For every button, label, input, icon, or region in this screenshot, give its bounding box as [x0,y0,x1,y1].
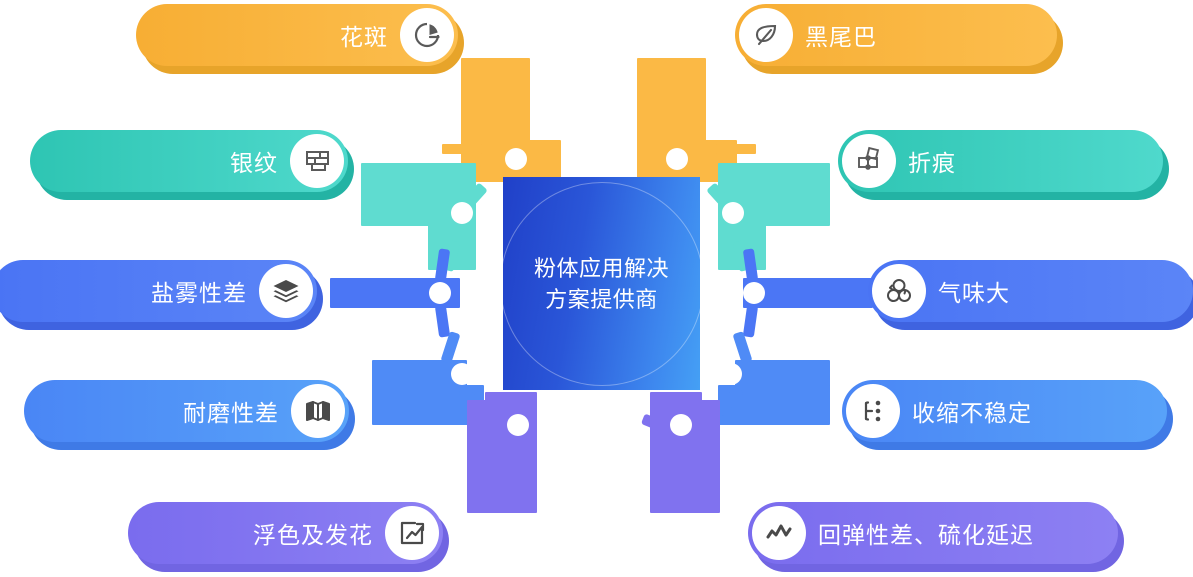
node-bar[interactable]: 盐雾性差 [0,260,317,322]
node-qiweida[interactable]: 气味大 [868,260,1193,322]
node-shousuobuwending[interactable]: 收缩不稳定 [842,380,1167,442]
brick-wall-icon [290,134,344,188]
center-hub: 粉体应用解决 方案提供商 [503,177,700,390]
node-zhehen[interactable]: 折痕 [838,130,1163,192]
node-label: 收缩不稳定 [912,394,1032,428]
node-huitanxingcha[interactable]: 回弹性差、硫化延迟 [748,502,1118,564]
node-bar[interactable]: 气味大 [868,260,1193,322]
node-bar[interactable]: 浮色及发花 [128,502,443,564]
node-label: 浮色及发花 [253,516,373,550]
recycle-icon [872,264,926,318]
node-bar[interactable]: 收缩不稳定 [842,380,1167,442]
node-bar[interactable]: 回弹性差、硫化延迟 [748,502,1118,564]
node-bar[interactable]: 银纹 [30,130,348,192]
node-heiweiba[interactable]: 黑尾巴 [735,4,1057,66]
map-icon [291,384,345,438]
node-label: 折痕 [908,144,956,178]
leaf-icon [739,8,793,62]
node-bar[interactable]: 折痕 [838,130,1163,192]
node-yanwuxingcha[interactable]: 盐雾性差 [0,260,317,322]
node-bar[interactable]: 花斑 [136,4,458,66]
node-fusejifahua[interactable]: 浮色及发花 [128,502,443,564]
node-label: 花斑 [340,18,388,52]
infographic-canvas: 粉体应用解决 方案提供商 花斑 黑尾巴 [0,0,1193,577]
sitemap-icon [846,384,900,438]
node-yinwen[interactable]: 银纹 [30,130,348,192]
node-huaban[interactable]: 花斑 [136,4,458,66]
node-label: 气味大 [938,274,1010,308]
node-label: 回弹性差、硫化延迟 [818,516,1034,550]
pie-chart-icon [400,8,454,62]
center-label: 粉体应用解决 方案提供商 [503,177,700,390]
line-chart-icon [752,506,806,560]
trending-up-chart-icon [385,506,439,560]
node-naimoxingcha[interactable]: 耐磨性差 [24,380,349,442]
node-label: 盐雾性差 [151,274,247,308]
layers-icon [259,264,313,318]
node-label: 银纹 [230,144,278,178]
node-bar[interactable]: 耐磨性差 [24,380,349,442]
node-bar[interactable]: 黑尾巴 [735,4,1057,66]
node-label: 耐磨性差 [183,394,279,428]
node-label: 黑尾巴 [805,18,877,52]
puzzle-icon [842,134,896,188]
